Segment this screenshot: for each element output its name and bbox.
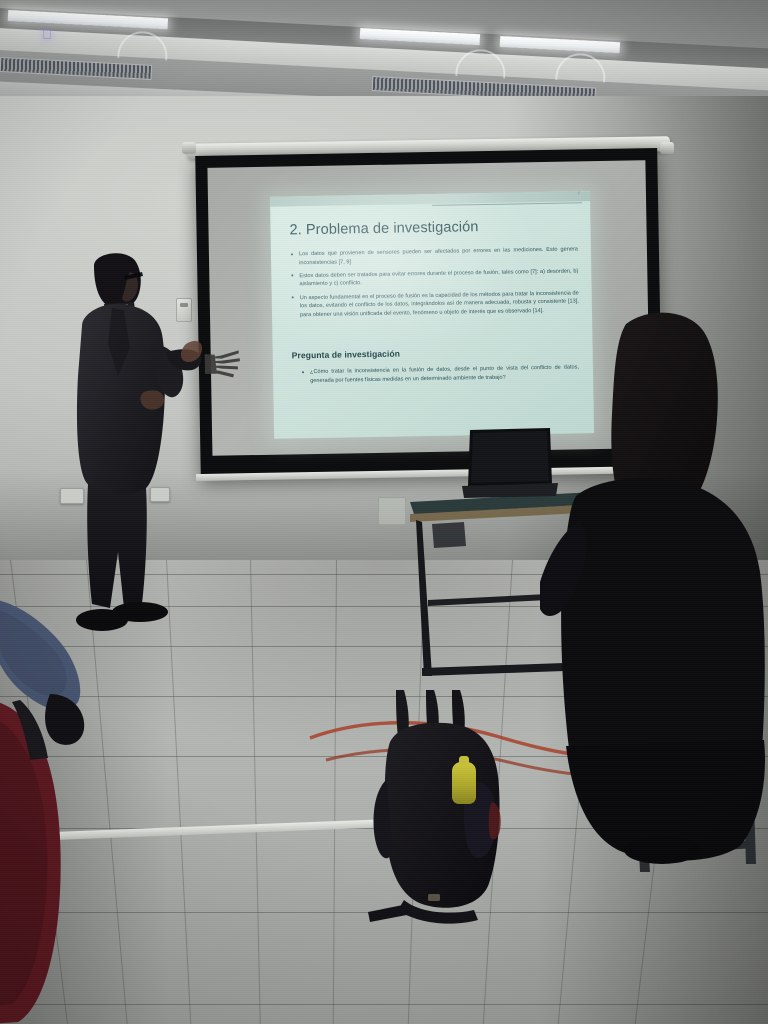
foreground-chair-back bbox=[0, 700, 80, 1024]
slide-question-bullet: ¿Cómo tratar la inconsistencia en la fus… bbox=[301, 363, 579, 385]
ceiling bbox=[0, 0, 768, 104]
presenter-hand-silhouette bbox=[205, 345, 242, 380]
classroom-photo-scene: 7 2. Problema de investigación Los datos… bbox=[0, 0, 768, 1024]
slide-bullet: Los datos que provienen de sensores pued… bbox=[290, 245, 578, 267]
floor-service-box bbox=[378, 497, 406, 525]
slide-bullet: Estos datos deben ser tratados para evit… bbox=[290, 267, 578, 289]
slide-bullet: Un aspecto fundamental en el proceso de … bbox=[291, 289, 579, 320]
roller-end-cap bbox=[660, 142, 674, 154]
apple-logo-icon:  bbox=[42, 28, 54, 42]
presenter bbox=[66, 252, 202, 656]
slide-number: 7 bbox=[577, 191, 581, 196]
slide-title: 2. Problema de investigación bbox=[289, 219, 478, 238]
slide-subtitle: Pregunta de investigación bbox=[292, 349, 400, 361]
seated-attendee bbox=[540, 310, 768, 870]
slide-question-list: ¿Cómo tratar la inconsistencia en la fus… bbox=[301, 363, 579, 390]
water-bottle[interactable] bbox=[452, 762, 476, 804]
backpack[interactable] bbox=[368, 690, 518, 930]
slide-bullet-list: Los datos que provienen de sensores pued… bbox=[290, 245, 579, 324]
roller-end-cap bbox=[182, 142, 196, 154]
slide-top-bar bbox=[270, 191, 590, 207]
